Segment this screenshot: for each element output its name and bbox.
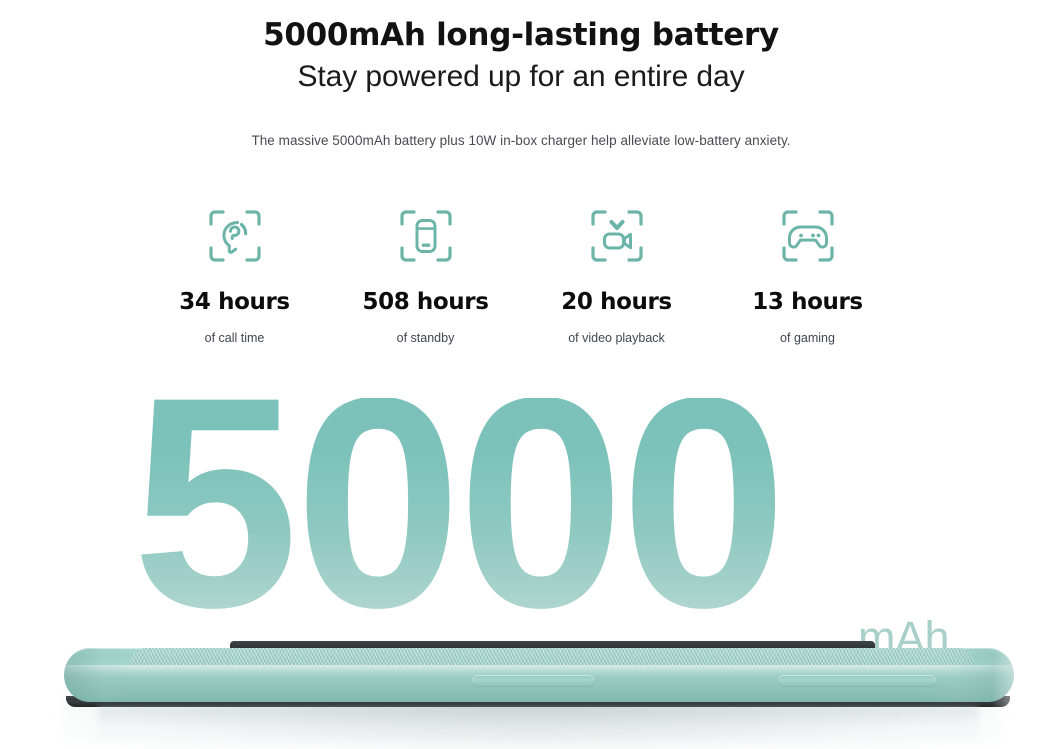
stat-value: 20 hours (561, 289, 671, 315)
gamepad-icon (772, 200, 844, 272)
stat-label: of gaming (780, 331, 835, 345)
battery-stats-row: 34 hours of call time 508 hours of stand… (139, 200, 903, 345)
smartphone-standby-icon (390, 200, 462, 272)
stat-item-gaming: 13 hours of gaming (712, 200, 903, 345)
phone-left-edge (64, 648, 134, 702)
phone-reflection (98, 707, 978, 747)
stat-label: of call time (205, 331, 265, 345)
hero-heading-group: 5000mAh long-lasting battery Stay powere… (0, 16, 1042, 97)
phone-power-button (472, 675, 594, 686)
stat-label: of video playback (568, 331, 665, 345)
battery-feature-page: 5000mAh long-lasting battery Stay powere… (0, 0, 1042, 749)
video-camera-icon (581, 200, 653, 272)
phone-call-icon (199, 200, 271, 272)
stat-item-video-playback: 20 hours of video playback (521, 200, 712, 345)
stat-item-call-time: 34 hours of call time (139, 200, 330, 345)
stat-item-standby: 508 hours of standby (330, 200, 521, 345)
stat-label: of standby (397, 331, 455, 345)
page-title: 5000mAh long-lasting battery (0, 16, 1042, 55)
hero-description: The massive 5000mAh battery plus 10W in-… (0, 133, 1042, 148)
stat-value: 13 hours (752, 289, 862, 315)
page-subtitle: Stay powered up for an entire day (0, 57, 1042, 98)
big-number-value: 5000 (132, 398, 783, 652)
phone-body (64, 648, 1014, 702)
stat-value: 34 hours (179, 289, 289, 315)
phone-product-image (38, 640, 1010, 749)
stat-value: 508 hours (363, 289, 489, 315)
phone-volume-button (778, 675, 936, 686)
